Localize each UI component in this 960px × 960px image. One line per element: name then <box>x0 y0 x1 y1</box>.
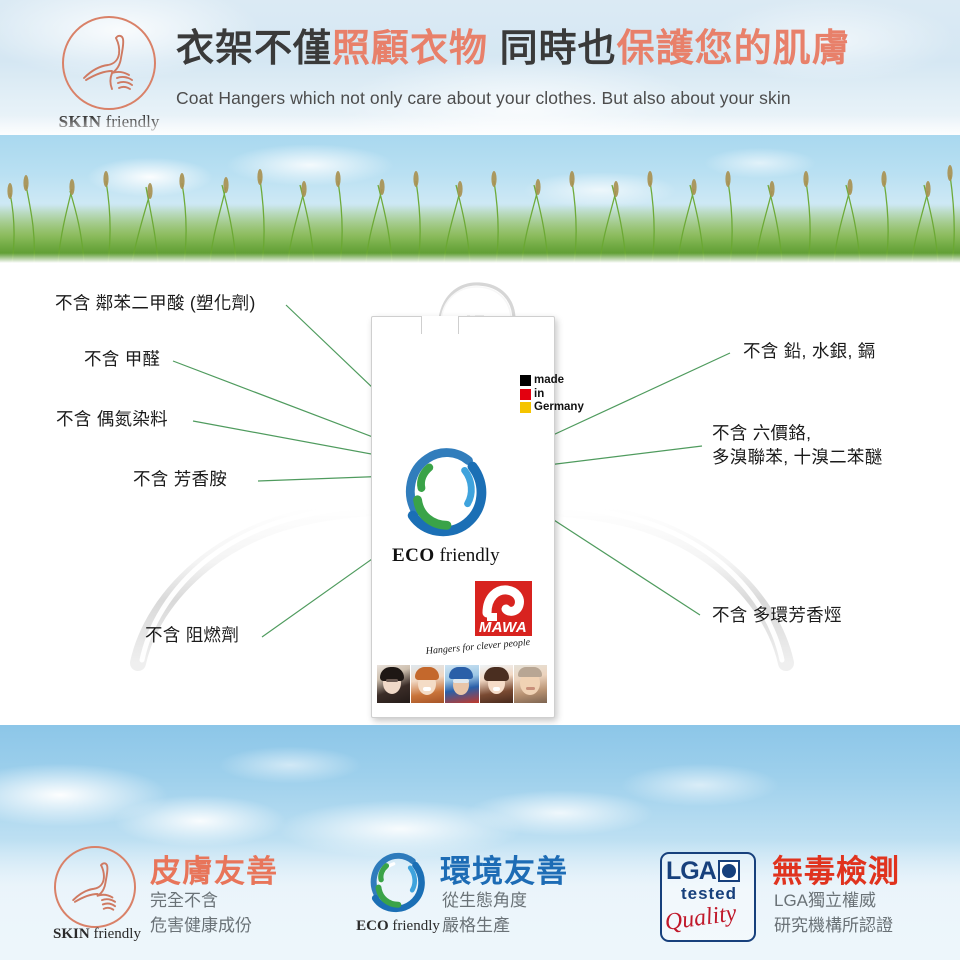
label-no-azo-dyes: 不含 偶氮染料 <box>56 407 168 431</box>
badge-skin-friendly: SKIN friendly 皮膚友善 完全不含 危害健康成份 <box>0 840 400 960</box>
people-photo-strip <box>377 665 547 703</box>
title-segment-3: 同時也 <box>500 28 617 70</box>
lga-text: LGA <box>666 858 716 884</box>
german-flag-black-swatch <box>520 375 531 386</box>
label-no-flame-retardants: 不含 阻燃劑 <box>145 623 239 647</box>
leader-line-7 <box>540 446 702 466</box>
badge-2-desc-line2: 嚴格生產 <box>442 913 510 938</box>
skin-hand-icon <box>62 16 156 110</box>
footer-badges: SKIN friendly 皮膚友善 完全不含 危害健康成份 <box>0 840 960 960</box>
badge-3-title: 無毒檢測 <box>772 846 900 891</box>
eco-mark-light: friendly <box>392 918 439 934</box>
badge-eco-friendly: ECO friendly 環境友善 從生態角度 嚴格生產 <box>400 840 650 960</box>
lga-quality-text: Quality <box>663 900 738 936</box>
leader-line-8 <box>540 511 700 615</box>
grass-field-photo <box>0 135 960 263</box>
german-flag-red-swatch <box>520 389 531 400</box>
title-segment-4: 保護您的肌膚 <box>617 28 851 70</box>
lga-square-icon <box>718 860 740 882</box>
svg-text:MAWA: MAWA <box>479 619 527 636</box>
label-no-chromium-pbb-pbde: 不含 六價鉻, 多溴聯苯, 十溴二苯醚 <box>712 421 883 469</box>
germany-line-3: Germany <box>534 401 584 415</box>
header-fade <box>0 115 960 137</box>
title-segment-2: 照顧衣物 <box>332 28 488 70</box>
skin-mark-wordmark: SKIN friendly <box>38 926 156 943</box>
label-no-formaldehyde: 不含 甲醛 <box>84 347 160 371</box>
eco-wordmark-bold: ECO <box>392 545 435 566</box>
badge-3-desc-line2: 研究機構所認證 <box>774 913 893 938</box>
skin-friendly-mark: SKIN friendly <box>46 846 146 946</box>
eco-friendly-wordmark: ECO friendly <box>392 545 500 567</box>
skin-mark-hand-icon <box>54 846 136 928</box>
eco-mark-bold: ECO <box>356 918 389 934</box>
photo-person-1 <box>377 665 410 703</box>
mawa-logo: MAWA <box>475 581 532 636</box>
badge-1-title: 皮膚友善 <box>150 846 278 891</box>
eco-wordmark-light: friendly <box>439 545 499 566</box>
badge-lga-tested: LGA tested Quality 無毒檢測 LGA獨立權威 研究機構所認證 <box>650 840 960 960</box>
germany-line-2: in <box>534 388 544 402</box>
label-chromium-line1: 不含 六價鉻, <box>712 421 883 445</box>
germany-row-in: in <box>520 388 616 402</box>
grass-blades <box>0 135 960 263</box>
photo-person-2 <box>411 665 444 703</box>
made-in-germany-badge: made in Germany <box>520 374 616 415</box>
page-subtitle: Coat Hangers which not only care about y… <box>176 88 791 109</box>
label-chromium-line2: 多溴聯苯, 十溴二苯醚 <box>712 445 883 469</box>
mawa-slogan-text: Hangers for clever people <box>424 639 531 657</box>
photo-person-5 <box>514 665 547 703</box>
label-no-aromatic-amines: 不含 芳香胺 <box>133 467 227 491</box>
skin-mark-light: friendly <box>93 926 140 942</box>
lga-quality-script: Quality <box>662 900 758 942</box>
mawa-hook-icon: MAWA <box>475 581 532 636</box>
german-flag-gold-swatch <box>520 402 531 413</box>
skin-mark-bold: SKIN <box>53 926 90 942</box>
badge-1-desc-line2: 危害健康成份 <box>150 913 252 938</box>
grass-bottom-fade <box>0 253 960 263</box>
eco-mark-wordmark: ECO friendly <box>348 918 448 935</box>
page-title: 衣架不僅照顧衣物 同時也保護您的肌膚 <box>176 26 851 72</box>
header-banner: SKIN friendly 衣架不僅照顧衣物 同時也保護您的肌膚 Coat Ha… <box>0 0 960 137</box>
title-segment-1: 衣架不僅 <box>176 28 332 70</box>
germany-line-1: made <box>534 374 564 388</box>
hanger-diagram: 不含 鄰苯二甲酸 (塑化劑) 不含 甲醛 不含 偶氮染料 不含 芳香胺 不含 阻… <box>0 263 960 725</box>
photo-person-3 <box>445 665 478 703</box>
germany-row-germany: Germany <box>520 401 616 415</box>
infographic-page: SKIN friendly 衣架不僅照顧衣物 同時也保護您的肌膚 Coat Ha… <box>0 0 960 960</box>
badge-2-desc-line1: 從生態角度 <box>442 888 527 913</box>
label-no-phthalates: 不含 鄰苯二甲酸 (塑化劑) <box>55 291 256 315</box>
label-no-pah: 不含 多環芳香烴 <box>712 603 842 627</box>
badge-3-desc-line1: LGA獨立權威 <box>774 888 876 913</box>
lga-logo-row: LGA <box>666 858 750 884</box>
mawa-slogan: Hangers for clever people <box>424 639 548 659</box>
lga-tested-quality-mark: LGA tested Quality <box>660 852 756 942</box>
photo-person-4 <box>480 665 513 703</box>
label-no-lead-mercury-cadmium: 不含 鉛, 水銀, 鎘 <box>743 339 876 363</box>
badge-1-desc-line1: 完全不含 <box>150 888 218 913</box>
badge-2-title: 環境友善 <box>440 846 568 891</box>
hang-tag-notch <box>421 316 459 334</box>
hang-tag-card: made in Germany <box>371 316 555 718</box>
eco-friendly-brush-circle-icon <box>396 441 494 539</box>
germany-row-made: made <box>520 374 616 388</box>
eco-friendly-mark <box>364 848 430 914</box>
